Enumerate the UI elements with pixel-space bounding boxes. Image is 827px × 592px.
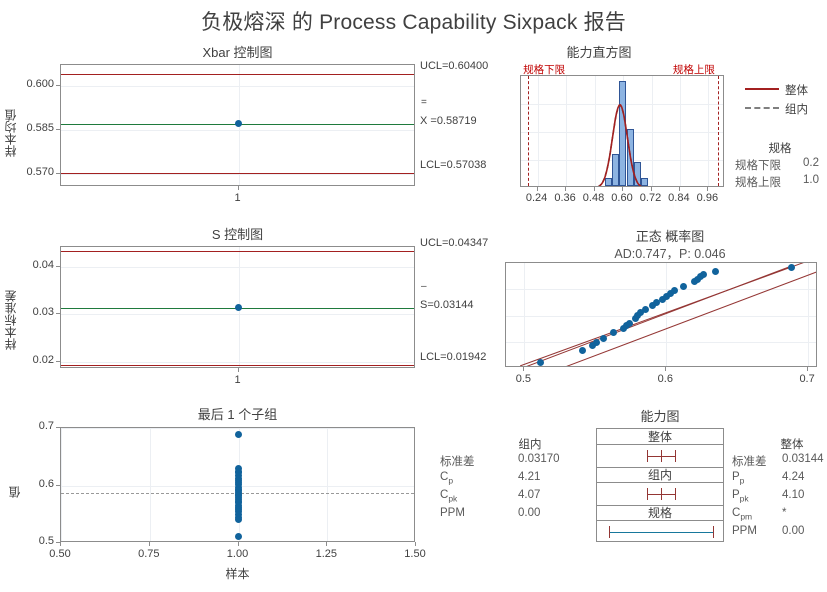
- s-chart-gridline: [61, 267, 414, 268]
- probplot-data-point: [600, 335, 607, 342]
- capability-spec-tick: [713, 526, 714, 538]
- probplot-x-tick-mark: [665, 367, 666, 371]
- last-subgroup-plot-area: [60, 427, 415, 542]
- subgroup-x-tick-mark: [415, 542, 416, 546]
- spec-row-label: 规格下限: [735, 157, 781, 173]
- xbar-y-tick-label: 0.570: [18, 166, 54, 178]
- legend-overall-swatch: [745, 88, 779, 90]
- legend-overall-label: 整体: [785, 82, 808, 98]
- subgroup-x-tick-mark: [60, 542, 61, 546]
- subgroup-data-point: [235, 516, 242, 523]
- subgroup-gridline: [327, 428, 328, 541]
- capability-histogram-title: 能力直方图: [520, 42, 678, 61]
- overall-stats-header: 整体: [762, 436, 822, 452]
- last-subgroup-title: 最后 1 个子组: [60, 404, 415, 423]
- s-chart-x-tick-mark: [238, 368, 239, 372]
- subgroup-x-tick-label: 1.00: [216, 548, 260, 560]
- within-stat-label: Cp: [440, 471, 453, 485]
- capability-row-divider: [597, 505, 723, 506]
- capability-plot-title: 能力图: [580, 406, 740, 425]
- xbar-chart-title: Xbar 控制图: [60, 42, 415, 61]
- s-chart-plot-area: [60, 246, 415, 368]
- s-chart-center-label: S=0.03144: [420, 299, 474, 311]
- subgroup-x-tick-label: 0.75: [127, 548, 171, 560]
- subgroup-y-tick-label: 0.6: [22, 478, 54, 490]
- overall-stat-label: Ppk: [732, 489, 749, 503]
- spec-row-value: 1.0: [803, 174, 819, 186]
- overall-stat-value: *: [782, 507, 786, 519]
- s-chart-y-tick-label: 0.04: [18, 259, 54, 271]
- capability-histogram-plot-area: [520, 75, 724, 187]
- xbar-lcl-label: LCL=0.57038: [420, 159, 486, 171]
- histogram-x-tick-mark: [651, 187, 652, 191]
- capability-row-header-overall: 整体: [597, 429, 723, 445]
- xbar-y-tick-label: 0.600: [18, 78, 54, 90]
- last-subgroup-x-axis-label: 样本: [60, 565, 415, 582]
- histogram-normal-curves: [521, 76, 724, 187]
- xbar-y-tick-mark: [56, 173, 60, 174]
- histogram-x-tick-mark: [707, 187, 708, 191]
- histogram-usl-label: 规格上限: [673, 62, 715, 77]
- histogram-x-tick-label: 0.84: [663, 192, 695, 204]
- s-chart-lcl-label: LCL=0.01942: [420, 351, 486, 363]
- xbar-lcl-line: [61, 173, 414, 174]
- capability-overall-tick: [661, 450, 662, 462]
- subgroup-x-tick-mark: [326, 542, 327, 546]
- subgroup-x-tick-label: 1.25: [304, 548, 348, 560]
- subgroup-gridline: [150, 428, 151, 541]
- within-stat-label: Cpk: [440, 489, 457, 503]
- probplot-data-point: [788, 264, 795, 271]
- probplot-x-tick-label: 0.5: [507, 373, 539, 385]
- s-chart-data-point: [235, 304, 242, 311]
- histogram-x-tick-mark: [565, 187, 566, 191]
- capability-overall-tick: [675, 450, 676, 462]
- capability-row-header-spec: 规格: [597, 505, 723, 521]
- capability-row-divider: [597, 467, 723, 468]
- within-stat-label: PPM: [440, 507, 465, 519]
- xbar-y-tick-mark: [56, 85, 60, 86]
- legend-within-swatch: [745, 107, 779, 109]
- subgroup-gridline: [61, 428, 414, 429]
- s-chart-ucl-line: [61, 251, 414, 252]
- overall-stat-label: 标准差: [732, 453, 767, 469]
- histogram-x-tick-label: 0.96: [691, 192, 723, 204]
- s-chart-gridline: [61, 362, 414, 363]
- xbar-ucl-label: UCL=0.60400: [420, 60, 488, 72]
- subgroup-x-tick-label: 1.50: [393, 548, 437, 560]
- capability-plot-table: 整体组内规格: [596, 428, 724, 542]
- histogram-x-tick-label: 0.72: [635, 192, 667, 204]
- xbar-center-bar: =: [421, 99, 427, 107]
- histogram-usl-line: [718, 76, 719, 186]
- xbar-y-axis-label: 样本均值: [2, 88, 16, 178]
- xbar-center-label: X =0.58719: [420, 115, 477, 127]
- s-chart-x-tick-label: 1: [228, 374, 248, 386]
- s-chart-gridline: [61, 314, 414, 315]
- subgroup-y-tick-label: 0.5: [22, 535, 54, 547]
- capability-within-tick: [647, 488, 648, 500]
- capability-spec-bar: [609, 532, 713, 533]
- histogram-x-tick-label: 0.36: [549, 192, 581, 204]
- subgroup-x-tick-label: 0.50: [38, 548, 82, 560]
- overall-stat-label: Pp: [732, 471, 744, 485]
- histogram-x-tick-mark: [537, 187, 538, 191]
- subgroup-data-point: [235, 431, 242, 438]
- xbar-ucl-line: [61, 74, 414, 75]
- subgroup-y-tick-label: 0.7: [22, 420, 54, 432]
- xbar-gridline: [61, 86, 414, 87]
- xbar-x-tick-mark: [238, 186, 239, 190]
- probplot-x-tick-mark: [807, 367, 808, 371]
- probplot-data-point: [700, 271, 707, 278]
- probability-plot-area: [505, 262, 817, 367]
- capability-overall-tick: [647, 450, 648, 462]
- s-chart-y-tick-mark: [56, 313, 60, 314]
- capability-spec-tick: [609, 526, 610, 538]
- spec-box-title: 规格: [740, 140, 820, 156]
- probplot-x-tick-label: 0.6: [649, 373, 681, 385]
- subgroup-y-tick-mark: [56, 427, 60, 428]
- s-chart-ucl-label: UCL=0.04347: [420, 237, 488, 249]
- subgroup-y-tick-mark: [56, 485, 60, 486]
- overall-stat-value: 4.24: [782, 471, 804, 483]
- subgroup-y-tick-mark: [56, 542, 60, 543]
- within-stat-label: 标准差: [440, 453, 475, 469]
- probplot-data-point: [537, 359, 544, 366]
- s-chart-y-tick-mark: [56, 266, 60, 267]
- subgroup-x-tick-mark: [149, 542, 150, 546]
- capability-within-tick: [675, 488, 676, 500]
- xbar-y-tick-mark: [56, 129, 60, 130]
- xbar-chart-plot-area: [60, 64, 415, 186]
- probplot-x-tick-mark: [523, 367, 524, 371]
- subgroup-gridline: [61, 428, 62, 541]
- histogram-lsl-line: [528, 76, 529, 186]
- xbar-y-tick-label: 0.585: [18, 122, 54, 134]
- legend-within-label: 组内: [785, 101, 808, 117]
- within-stat-value: 0.03170: [518, 453, 560, 465]
- s-chart-y-tick-label: 0.02: [18, 354, 54, 366]
- xbar-gridline: [61, 174, 414, 175]
- s-chart-title: S 控制图: [60, 224, 415, 243]
- within-stat-value: 4.07: [518, 489, 540, 501]
- probplot-data-point: [680, 283, 687, 290]
- histogram-x-tick-mark: [622, 187, 623, 191]
- spec-row-value: 0.2: [803, 157, 819, 169]
- s-chart-lcl-line: [61, 365, 414, 366]
- s-chart-y-tick-mark: [56, 361, 60, 362]
- s-chart-y-tick-label: 0.03: [18, 306, 54, 318]
- xbar-x-tick-label: 1: [228, 192, 248, 204]
- probplot-x-tick-label: 0.7: [791, 373, 823, 385]
- histogram-x-tick-label: 0.24: [521, 192, 553, 204]
- overall-stat-value: 0.03144: [782, 453, 824, 465]
- histogram-x-tick-label: 0.60: [606, 192, 638, 204]
- subgroup-x-tick-mark: [238, 542, 239, 546]
- subgroup-data-point: [235, 533, 242, 540]
- within-stat-value: 4.21: [518, 471, 540, 483]
- within-stats-header: 组内: [500, 436, 560, 452]
- capability-row-header-within: 组内: [597, 467, 723, 483]
- spec-row-label: 规格上限: [735, 174, 781, 190]
- histogram-lsl-label: 规格下限: [523, 62, 565, 77]
- s-chart-y-axis-label: 样本标准差: [2, 270, 16, 370]
- probability-plot-subtitle: AD:0.747，P: 0.046: [520, 243, 820, 262]
- page-title: 负极熔深 的 Process Capability Sixpack 报告: [0, 6, 827, 36]
- last-subgroup-y-axis-label: 值: [6, 480, 20, 504]
- xbar-data-point: [235, 120, 242, 127]
- histogram-x-tick-label: 0.48: [578, 192, 610, 204]
- overall-stat-value: 4.10: [782, 489, 804, 501]
- probplot-data-point: [626, 320, 633, 327]
- probplot-data-point: [642, 306, 649, 313]
- within-stat-value: 0.00: [518, 507, 540, 519]
- s-chart-center-bar: –: [421, 283, 427, 291]
- overall-stat-value: 0.00: [782, 525, 804, 537]
- histogram-x-tick-mark: [594, 187, 595, 191]
- capability-within-tick: [661, 488, 662, 500]
- probplot-fit-lines: [506, 263, 817, 367]
- overall-stat-label: Cpm: [732, 507, 752, 521]
- xbar-gridline: [61, 130, 414, 131]
- histogram-x-tick-mark: [679, 187, 680, 191]
- overall-stat-label: PPM: [732, 525, 757, 537]
